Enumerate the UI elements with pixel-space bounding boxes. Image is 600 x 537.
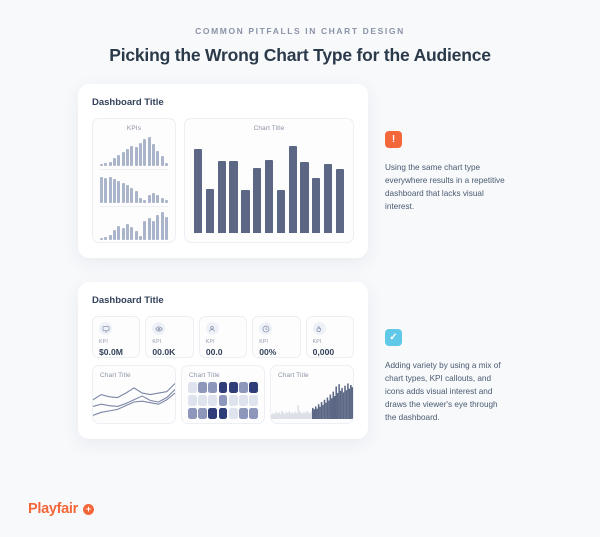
- area-slice: [274, 414, 276, 419]
- area-slice: [296, 413, 298, 419]
- line-chart-panel[interactable]: Chart Title: [92, 365, 176, 424]
- mini-chart-title: Chart Title: [93, 366, 175, 379]
- kpi-card-row: KPI $0.0M KPI 00.0K KPI: [92, 316, 354, 358]
- area-slice: [283, 413, 285, 419]
- area-slice: [278, 412, 280, 419]
- area-slice: [319, 407, 321, 419]
- spark-bar: [161, 156, 164, 166]
- warning-badge: !: [385, 131, 402, 148]
- waffle-cell: [188, 395, 197, 406]
- bar: [336, 169, 344, 233]
- kpi-label: KPI: [206, 339, 246, 345]
- spark-bar: [139, 143, 142, 166]
- area-slice: [299, 411, 301, 419]
- waffle-cell: [229, 382, 238, 393]
- waffle-cell: [208, 408, 217, 419]
- eyebrow-label: COMMON PITFALLS IN CHART DESIGN: [0, 26, 600, 36]
- clock-icon: [259, 322, 272, 335]
- spark-bar: [126, 185, 129, 203]
- spark-bar: [156, 151, 159, 166]
- kpi-value: $0.0M: [99, 347, 139, 357]
- kpi-card[interactable]: KPI 00.0: [199, 316, 247, 358]
- brand-name: Playfair: [28, 501, 78, 517]
- mini-chart-row: Chart Title Chart Title Chart Title: [92, 365, 354, 424]
- bar: [324, 164, 332, 233]
- bar: [289, 146, 297, 233]
- area-slice: [318, 404, 320, 419]
- waffle-cell: [219, 408, 228, 419]
- waffle-cell: [249, 408, 258, 419]
- area-slice: [328, 401, 330, 420]
- waffle-cell: [198, 382, 207, 393]
- area-chart[interactable]: [271, 382, 353, 419]
- mini-chart-title: Chart Title: [182, 366, 264, 379]
- kpi-card[interactable]: KPI 00%: [252, 316, 300, 358]
- area-slice: [316, 409, 318, 419]
- spark-bar: [117, 155, 120, 166]
- spark-bar: [109, 162, 112, 166]
- spark-bar: [152, 193, 155, 203]
- area-slice: [330, 395, 332, 419]
- spark-bar: [126, 224, 129, 240]
- area-slice: [335, 386, 337, 419]
- dashboard-title: Dashboard Title: [92, 97, 354, 108]
- area-slice: [306, 411, 308, 419]
- spark-bar: [104, 163, 107, 166]
- area-chart-panel[interactable]: Chart Title: [270, 365, 354, 424]
- spark-bar: [109, 177, 112, 203]
- spark-bar: [130, 227, 133, 240]
- spark-bar: [104, 237, 107, 240]
- area-slice: [303, 412, 305, 419]
- area-slice: [308, 412, 310, 419]
- waffle-cell: [188, 382, 197, 393]
- spark-bar: [113, 230, 116, 240]
- good-example-section: Dashboard Title KPI $0.0M KPI 00.: [78, 282, 510, 439]
- callout-warning: ! Using the same chart type everywhere r…: [385, 84, 510, 214]
- waffle-cell: [219, 395, 228, 406]
- spark-bar: [148, 195, 151, 203]
- sparkline-stack: [93, 132, 175, 243]
- line-series: [93, 383, 175, 399]
- area-slice: [311, 412, 313, 419]
- chart-panel-title: Chart Title: [185, 119, 353, 132]
- spark-bar: [148, 137, 151, 166]
- area-slice: [309, 413, 311, 419]
- waffle-cell: [198, 395, 207, 406]
- waffle-cell: [229, 408, 238, 419]
- waffle-cell: [198, 408, 207, 419]
- waffle-cell: [239, 408, 248, 419]
- area-slice: [321, 402, 323, 419]
- area-slice: [286, 412, 288, 419]
- waffle-chart-panel[interactable]: Chart Title: [181, 365, 265, 424]
- line-series: [93, 393, 175, 415]
- area-slice: [313, 409, 315, 419]
- waffle-cell: [208, 395, 217, 406]
- spark-bar: [139, 236, 142, 240]
- spark-bar: [165, 200, 168, 203]
- spark-bar: [104, 178, 107, 203]
- plus-icon: +: [83, 504, 94, 515]
- spark-bar: [161, 198, 164, 203]
- callout-success-text: Adding variety by using a mix of chart t…: [385, 360, 510, 425]
- area-slice: [302, 413, 304, 419]
- spark-bar: [126, 149, 129, 166]
- sparkline-chart[interactable]: [100, 210, 168, 243]
- bar: [253, 168, 261, 233]
- area-slice: [341, 388, 343, 419]
- kpi-label: KPI: [99, 339, 139, 345]
- kpi-card[interactable]: KPI $0.0M: [92, 316, 140, 358]
- waffle-cell: [239, 382, 248, 393]
- bar: [218, 161, 226, 233]
- bar: [300, 162, 308, 233]
- bar: [194, 149, 202, 233]
- kpi-card[interactable]: KPI 00.0K: [145, 316, 193, 358]
- area-slice: [271, 415, 273, 419]
- spark-bar: [143, 200, 146, 203]
- area-slice: [324, 400, 326, 419]
- area-slice: [272, 413, 274, 419]
- area-slice: [305, 413, 307, 419]
- waffle-cell: [249, 395, 258, 406]
- spark-bar: [156, 195, 159, 203]
- spark-bar: [100, 177, 103, 203]
- area-slice: [331, 398, 333, 419]
- area-slice: [340, 391, 342, 419]
- kpi-value: 0,000: [313, 347, 353, 357]
- spark-bar: [100, 238, 103, 240]
- spark-bar: [100, 164, 103, 166]
- kpi-label: KPI: [259, 339, 299, 345]
- spark-bar: [148, 218, 151, 240]
- spark-bar: [109, 235, 112, 240]
- bar: [312, 178, 320, 233]
- spark-bar: [165, 163, 168, 166]
- area-slice: [347, 383, 349, 419]
- area-slice: [300, 413, 302, 419]
- area-slice: [349, 389, 351, 419]
- spark-bar: [122, 228, 125, 240]
- bar: [241, 190, 249, 233]
- line-chart[interactable]: [93, 382, 175, 419]
- check-badge: ✓: [385, 329, 402, 346]
- bar: [229, 161, 237, 233]
- area-slice: [284, 414, 286, 419]
- area-slice: [334, 396, 336, 419]
- dashboard-title: Dashboard Title: [92, 295, 354, 306]
- eye-icon: [152, 322, 165, 335]
- area-slice: [333, 392, 335, 419]
- kpi-panel-title: KPIs: [93, 119, 175, 132]
- waffle-chart[interactable]: [182, 382, 264, 419]
- spark-bar: [152, 144, 155, 166]
- area-slice: [322, 405, 324, 419]
- kpi-value: 00.0: [206, 347, 246, 357]
- spark-bar: [135, 191, 138, 203]
- area-slice: [290, 413, 292, 419]
- waffle-cell: [219, 382, 228, 393]
- bad-example-section: Dashboard Title KPIs Chart Title ! Using…: [78, 84, 510, 258]
- area-slice: [281, 411, 283, 419]
- area-slice: [315, 406, 317, 419]
- area-slice: [294, 412, 296, 419]
- waffle-cell: [229, 395, 238, 406]
- person-icon: [206, 322, 219, 335]
- spark-bar: [117, 226, 120, 240]
- mini-chart-title: Chart Title: [271, 366, 353, 379]
- callout-success: ✓ Adding variety by using a mix of chart…: [385, 282, 510, 425]
- kpi-label: KPI: [313, 339, 353, 345]
- spark-bar: [143, 221, 146, 240]
- bar: [206, 189, 214, 233]
- spark-bar: [139, 198, 142, 203]
- sparkline-chart[interactable]: [100, 136, 168, 170]
- kpi-sparkline-panel[interactable]: KPIs: [92, 118, 176, 243]
- kpi-label: KPI: [152, 339, 192, 345]
- spark-bar: [130, 188, 133, 203]
- spark-bar: [165, 217, 168, 240]
- footer-logo[interactable]: Playfair +: [28, 501, 94, 517]
- spark-bar: [122, 183, 125, 203]
- callout-warning-text: Using the same chart type everywhere res…: [385, 162, 510, 214]
- area-slice: [293, 414, 295, 419]
- dashboard-card-bad: Dashboard Title KPIs Chart Title: [78, 84, 368, 258]
- monitor-icon: [99, 322, 112, 335]
- spark-bar: [113, 158, 116, 166]
- main-bar-chart-panel[interactable]: Chart Title: [184, 118, 354, 243]
- sparkline-chart[interactable]: [100, 173, 168, 207]
- bar-chart[interactable]: [185, 132, 353, 233]
- waffle-cell: [249, 382, 258, 393]
- spark-bar: [161, 212, 164, 240]
- area-slice: [292, 412, 294, 419]
- area-slice: [287, 413, 289, 419]
- area-slice: [343, 392, 345, 419]
- kpi-card[interactable]: KPI 0,000: [306, 316, 354, 358]
- spark-bar: [152, 221, 155, 240]
- page-title: Picking the Wrong Chart Type for the Aud…: [0, 45, 600, 66]
- spark-bar: [143, 139, 146, 166]
- spark-bar: [156, 215, 159, 240]
- area-slice: [344, 386, 346, 419]
- waffle-cell: [188, 408, 197, 419]
- area-slice: [350, 385, 352, 419]
- spark-bar: [117, 181, 120, 203]
- area-slice: [338, 384, 340, 419]
- bar: [265, 160, 273, 233]
- area-slice: [297, 405, 299, 419]
- hand-icon: [313, 322, 326, 335]
- area-slice: [289, 411, 291, 419]
- area-slice: [327, 398, 329, 419]
- bar: [277, 190, 285, 233]
- spark-bar: [135, 147, 138, 166]
- waffle-cell: [208, 382, 217, 393]
- area-slice: [280, 414, 282, 419]
- spark-bar: [130, 146, 133, 166]
- area-slice: [325, 403, 327, 419]
- spark-bar: [135, 231, 138, 240]
- kpi-value: 00%: [259, 347, 299, 357]
- area-slice: [352, 387, 353, 419]
- spark-bar: [122, 152, 125, 166]
- dashboard-card-good: Dashboard Title KPI $0.0M KPI 00.: [78, 282, 368, 439]
- area-slice: [337, 393, 339, 419]
- area-slice: [277, 413, 279, 419]
- area-slice: [346, 390, 348, 419]
- area-slice: [312, 408, 314, 419]
- kpi-value: 00.0K: [152, 347, 192, 357]
- spark-bar: [113, 179, 116, 203]
- page-header: COMMON PITFALLS IN CHART DESIGN Picking …: [0, 0, 600, 66]
- area-slice: [275, 412, 277, 419]
- waffle-cell: [239, 395, 248, 406]
